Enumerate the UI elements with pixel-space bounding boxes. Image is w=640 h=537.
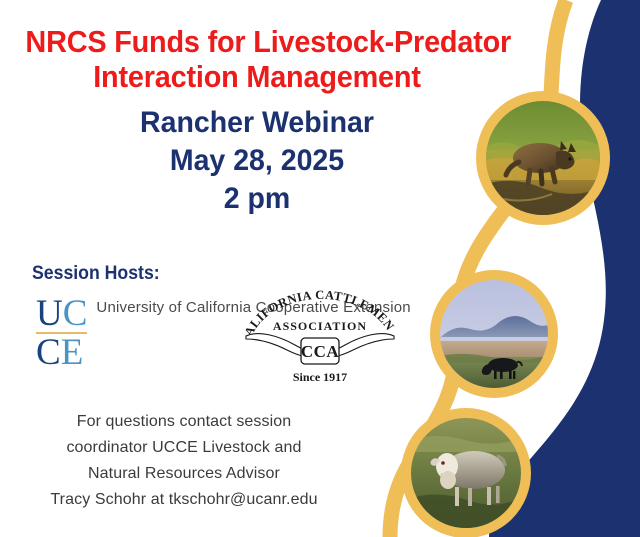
cattle-photo bbox=[430, 270, 558, 398]
ucce-monogram-top: UC bbox=[36, 297, 87, 331]
title-line-2: Interaction Management bbox=[25, 59, 488, 94]
contact-line-2: coordinator UCCE Livestock and bbox=[14, 435, 354, 461]
headline-block: NRCS Funds for Livestock-Predator Intera… bbox=[8, 24, 506, 218]
cca-subtitle: ASSOCIATION bbox=[273, 319, 367, 333]
subtitle-rancher-webinar: Rancher Webinar bbox=[20, 104, 493, 142]
ucce-monogram: UC CE bbox=[36, 296, 87, 370]
ucce-word-line-1: University bbox=[96, 299, 164, 316]
contact-line-3: Natural Resources Advisor bbox=[14, 461, 354, 487]
cca-since-text: Since 1917 bbox=[293, 370, 347, 384]
cca-monogram: CCA bbox=[301, 342, 340, 361]
ucce-monogram-bottom: CE bbox=[36, 336, 87, 370]
flyer-title: NRCS Funds for Livestock-Predator Intera… bbox=[25, 24, 488, 94]
contact-line-1: For questions contact session bbox=[14, 409, 354, 435]
subtitle-date: May 28, 2025 bbox=[20, 142, 493, 180]
title-line-1: NRCS Funds for Livestock-Predator bbox=[25, 24, 511, 59]
contact-block: For questions contact session coordinato… bbox=[14, 409, 354, 513]
contact-line-4: Tracy Schohr at tkschohr@ucanr.edu bbox=[14, 487, 354, 513]
ucce-word-line-2: of California bbox=[169, 299, 252, 316]
cca-logo: CALIFORNIA CATTLEMEN'S ASSOCIATION CCA S… bbox=[243, 288, 397, 384]
session-hosts-label: Session Hosts: bbox=[32, 263, 160, 285]
sheep-photo bbox=[401, 408, 531, 537]
webinar-flyer: NRCS Funds for Livestock-Predator Intera… bbox=[0, 0, 640, 537]
subtitle-time: 2 pm bbox=[20, 180, 493, 218]
